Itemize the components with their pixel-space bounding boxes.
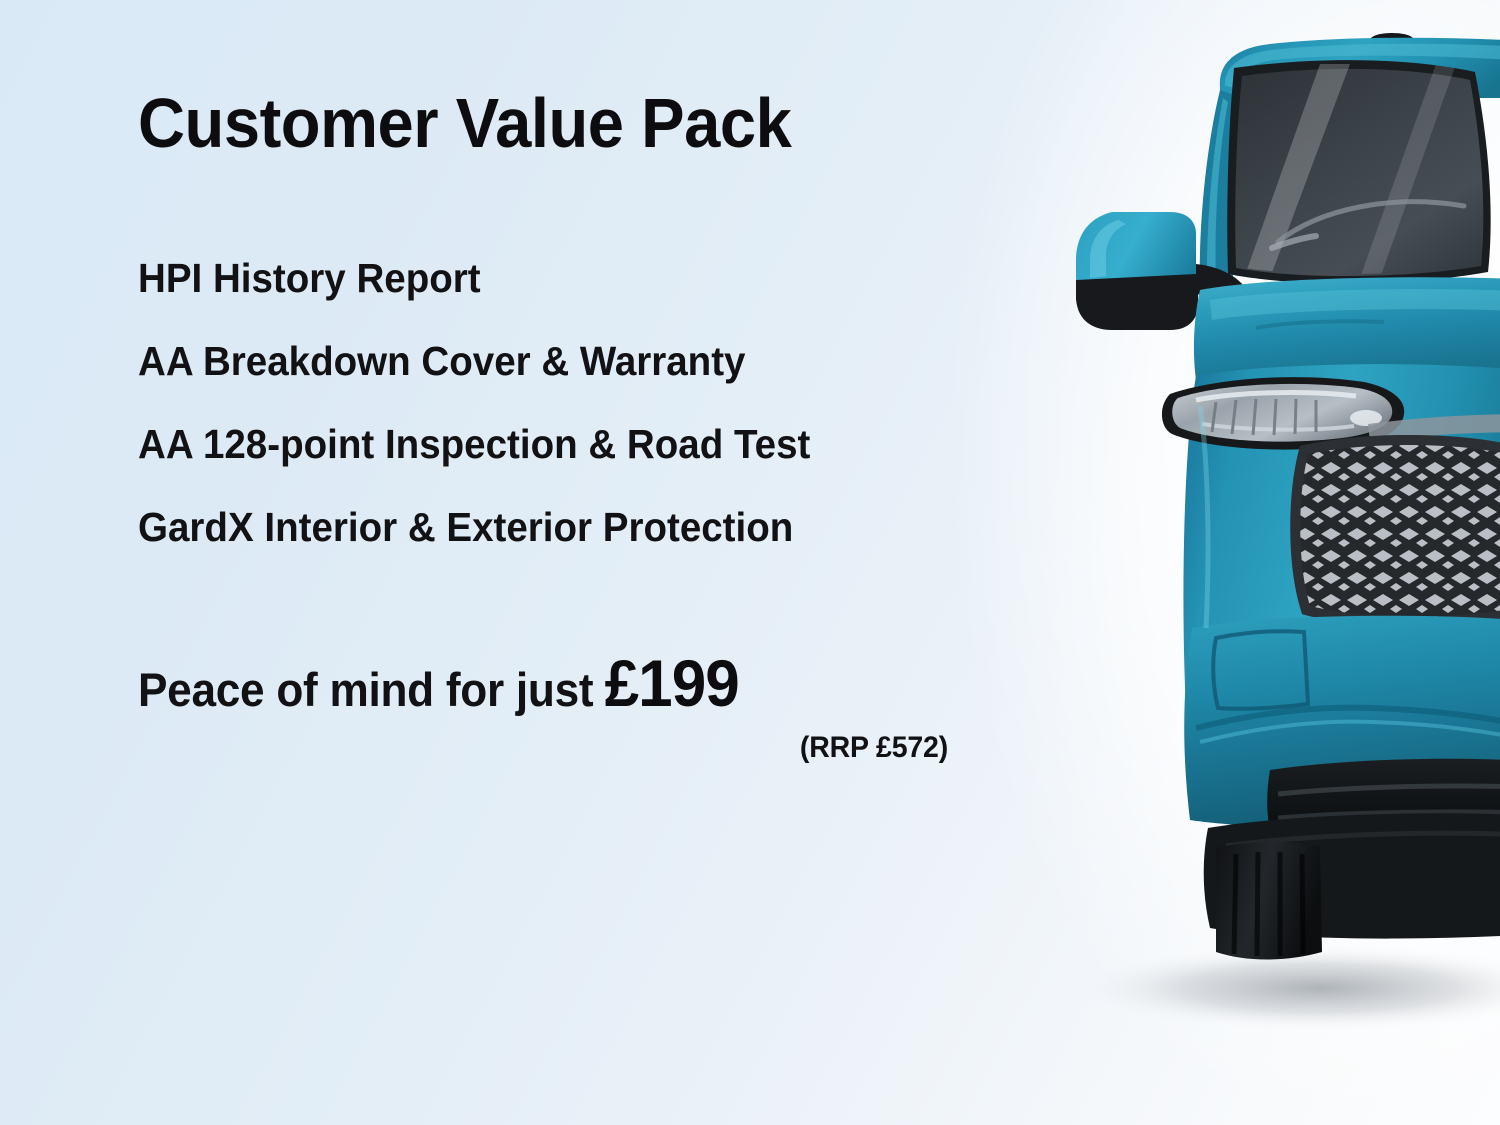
photo-backdrop bbox=[930, 0, 1500, 1125]
benefit-item-inspection: AA 128-point Inspection & Road Test bbox=[138, 424, 946, 465]
front-tyre bbox=[1216, 842, 1322, 960]
page-title: Customer Value Pack bbox=[138, 88, 791, 158]
benefit-item-hpi: HPI History Report bbox=[138, 258, 946, 299]
price-amount: £199 bbox=[605, 646, 739, 720]
van-bumper bbox=[1184, 616, 1500, 828]
van-a-pillar bbox=[1200, 90, 1244, 296]
price-lead-text: Peace of mind for just bbox=[138, 663, 593, 716]
lower-valance bbox=[1204, 813, 1500, 938]
headlight bbox=[1162, 377, 1404, 449]
ground-shadow bbox=[1070, 944, 1500, 1032]
wing-mirror bbox=[1076, 212, 1244, 330]
benefit-item-gardx: GardX Interior & Exterior Protection bbox=[138, 507, 946, 548]
price-line: Peace of mind for just£199 bbox=[138, 645, 899, 721]
benefit-item-breakdown-warranty: AA Breakdown Cover & Warranty bbox=[138, 341, 946, 382]
content-column: Customer Value Pack HPI History Report A… bbox=[138, 0, 1008, 1125]
tow-eye-cover bbox=[1213, 631, 1308, 709]
benefits-list: HPI History Report AA Breakdown Cover & … bbox=[138, 258, 998, 590]
van-bonnet bbox=[1194, 277, 1500, 380]
van-image bbox=[1020, 28, 1500, 1058]
price-rrp: (RRP £572) bbox=[179, 731, 949, 765]
van-roof bbox=[1220, 38, 1500, 98]
roof-antenna-icon bbox=[1370, 33, 1414, 47]
promo-banner: Customer Value Pack HPI History Report A… bbox=[0, 0, 1500, 1125]
price-block: Peace of mind for just£199 (RRP £572) bbox=[138, 645, 948, 765]
front-grille bbox=[1286, 424, 1500, 639]
lower-grille bbox=[1267, 759, 1500, 846]
parking-sensor bbox=[1227, 827, 1241, 841]
van-front-face bbox=[1183, 364, 1500, 798]
windscreen bbox=[1227, 60, 1490, 283]
windscreen-wiper bbox=[1278, 202, 1464, 242]
